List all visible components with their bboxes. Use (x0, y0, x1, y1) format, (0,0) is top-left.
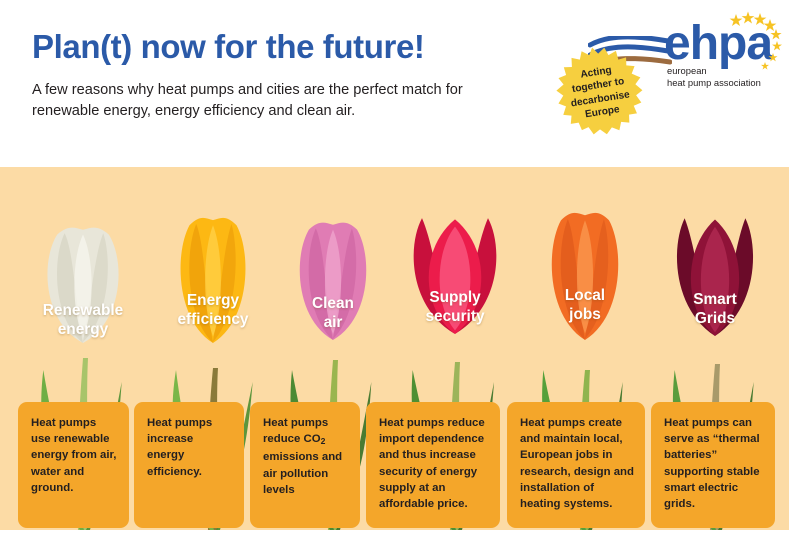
caption-box-1: Heat pumps use renewable energy from air… (18, 402, 129, 528)
tulip-label-line-2: security (390, 307, 520, 326)
tulip-label-2: Energyefficiency (148, 291, 278, 329)
caption-box-6: Heat pumps can serve as “thermal batteri… (651, 402, 775, 528)
footer-strip (0, 530, 789, 555)
caption-box-2: Heat pumps increase energy efficiency. (134, 402, 244, 528)
eu-stars-icon (710, 10, 789, 82)
header: Plan(t) now for the future! A few reason… (0, 0, 789, 167)
tulip-label-line-1: Clean (268, 294, 398, 313)
caption-text: Heat pumps create and maintain local, Eu… (520, 417, 634, 510)
caption-text: Heat pumps use renewable energy from air… (31, 417, 116, 494)
tulip-label-line-2: jobs (520, 305, 650, 324)
caption-text: Heat pumps can serve as “thermal batteri… (664, 417, 760, 510)
caption-subscript: 2 (321, 436, 326, 446)
caption-box-4: Heat pumps reduce import dependence and … (366, 402, 500, 528)
tulip-label-line-1: Supply (390, 288, 520, 307)
tulip-label-line-1: Smart (650, 290, 780, 309)
badge-text: Acting together to decarbonise Europe (561, 61, 639, 125)
caption-text: Heat pumps increase energy efficiency. (147, 417, 212, 478)
tulip-label-3: Cleanair (268, 294, 398, 332)
tulip-label-line-1: Renewable (18, 301, 148, 320)
tulip-label-6: SmartGrids (650, 290, 780, 328)
tulip-label-line-2: air (268, 313, 398, 332)
tulip-label-line-1: Energy (148, 291, 278, 310)
tulip-label-line-2: Grids (650, 309, 780, 328)
page-title: Plan(t) now for the future! (32, 28, 424, 66)
caption-box-3: Heat pumps reduce CO2 emissions and air … (250, 402, 360, 528)
tulip-label-line-2: efficiency (148, 310, 278, 329)
caption-text-post: emissions and air pollution levels (263, 451, 342, 495)
caption-text-pre: Heat pumps reduce CO (263, 417, 328, 445)
acting-together-badge: Acting together to decarbonise Europe (548, 41, 651, 142)
infographic-page: Plan(t) now for the future! A few reason… (0, 0, 789, 555)
caption-text: Heat pumps reduce import dependence and … (379, 417, 485, 510)
caption-box-5: Heat pumps create and maintain local, Eu… (507, 402, 645, 528)
tulip-label-line-1: Local (520, 286, 650, 305)
tulip-label-line-2: energy (18, 320, 148, 339)
tulip-label-5: Localjobs (520, 286, 650, 324)
tulip-label-1: Renewableenergy (18, 301, 148, 339)
page-subtitle: A few reasons why heat pumps and cities … (32, 80, 502, 121)
tulip-label-4: Supplysecurity (390, 288, 520, 326)
